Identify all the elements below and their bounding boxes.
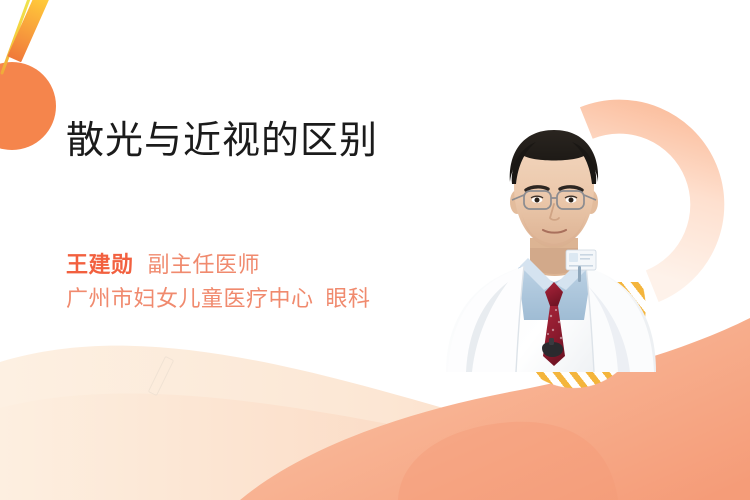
doctor-department: 眼科 — [326, 286, 371, 311]
diagonal-stroke-thick — [7, 0, 57, 62]
faint-diagonal-outline — [148, 356, 175, 396]
title-block: 散光与近视的区别 — [66, 118, 486, 164]
page-title: 散光与近视的区别 — [66, 118, 486, 164]
doctor-name: 王建勋 — [66, 252, 134, 277]
slide-canvas: 散光与近视的区别 王建勋副主任医师 广州市妇女儿童医疗中心眼科 — [0, 0, 750, 500]
wave-lobe — [398, 422, 618, 500]
diagonal-stroke-thin — [0, 0, 38, 75]
wave-mid — [0, 393, 750, 500]
byline-row-affiliation: 广州市妇女儿童医疗中心眼科 — [66, 282, 371, 316]
doctor-title: 副主任医师 — [148, 252, 261, 277]
byline-row-doctor: 王建勋副主任医师 — [66, 248, 371, 282]
name-badge — [566, 250, 596, 270]
doctor-affiliation: 广州市妇女儿童医疗中心 — [66, 286, 314, 311]
orange-circle — [0, 62, 56, 150]
byline-block: 王建勋副主任医师 广州市妇女儿童医疗中心眼科 — [66, 248, 371, 316]
